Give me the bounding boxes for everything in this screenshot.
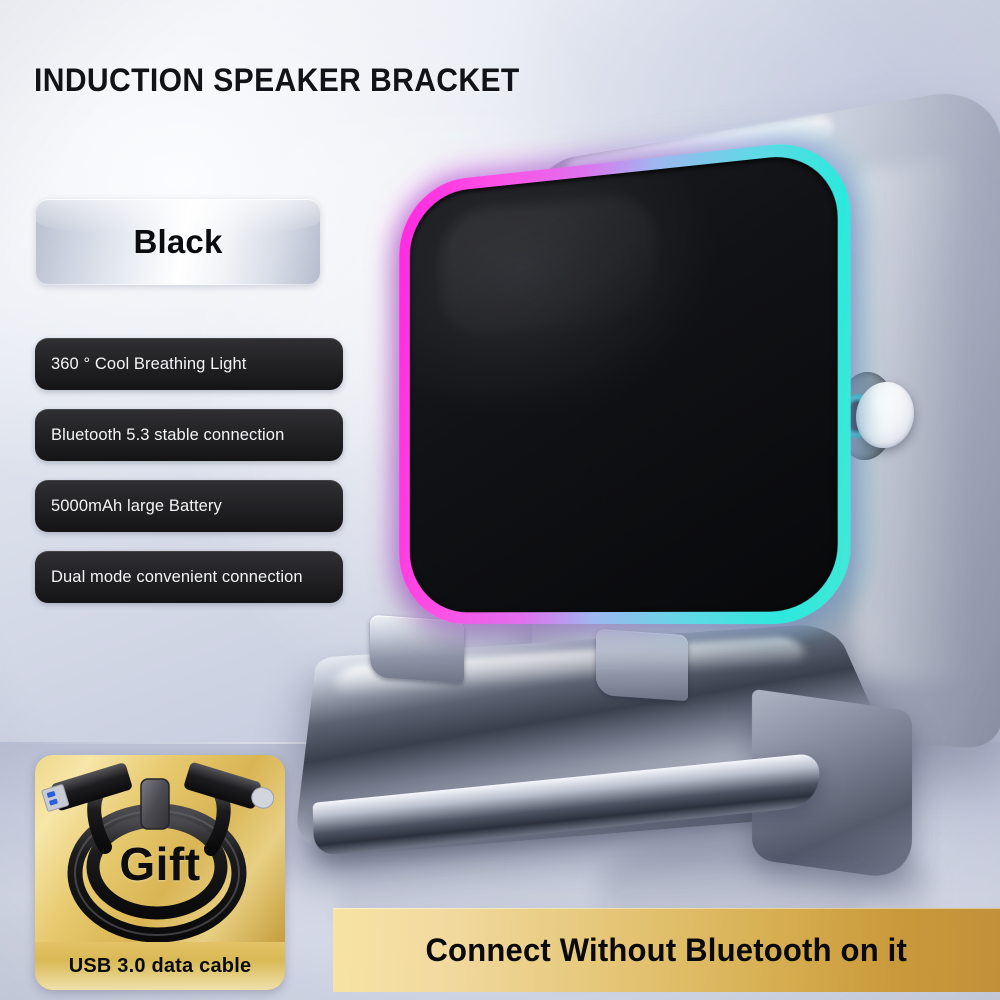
velcro-strap-icon	[141, 779, 169, 829]
gift-word: Gift	[35, 837, 285, 891]
feature-pill-label: 360 ° Cool Breathing Light	[35, 355, 246, 374]
feature-pill-battery: 5000mAh large Battery	[35, 480, 343, 532]
product-marketing-image: INDUCTION SPEAKER BRACKET Black 360 ° Co…	[0, 0, 1000, 1000]
gift-badge: Gift USB 3.0 data cable	[35, 755, 285, 990]
page-title: INDUCTION SPEAKER BRACKET	[34, 62, 520, 99]
feature-pill-label: Bluetooth 5.3 stable connection	[35, 426, 284, 445]
feature-pill-label: 5000mAh large Battery	[35, 497, 222, 516]
feature-pill-label: Dual mode convenient connection	[35, 568, 303, 587]
gift-caption-band: USB 3.0 data cable	[35, 942, 285, 990]
feature-pill-dual-mode: Dual mode convenient connection	[35, 551, 343, 603]
feature-pill-bluetooth: Bluetooth 5.3 stable connection	[35, 409, 343, 461]
bottom-banner-label: Connect Without Bluetooth on it	[426, 932, 908, 969]
feature-pill-breathing-light: 360 ° Cool Breathing Light	[35, 338, 343, 390]
usb-a-connector-icon	[41, 762, 133, 815]
color-variant-label: Black	[133, 223, 222, 261]
gift-caption: USB 3.0 data cable	[69, 955, 252, 978]
bottom-banner: Connect Without Bluetooth on it	[333, 908, 1000, 992]
color-variant-badge[interactable]: Black	[36, 199, 320, 285]
